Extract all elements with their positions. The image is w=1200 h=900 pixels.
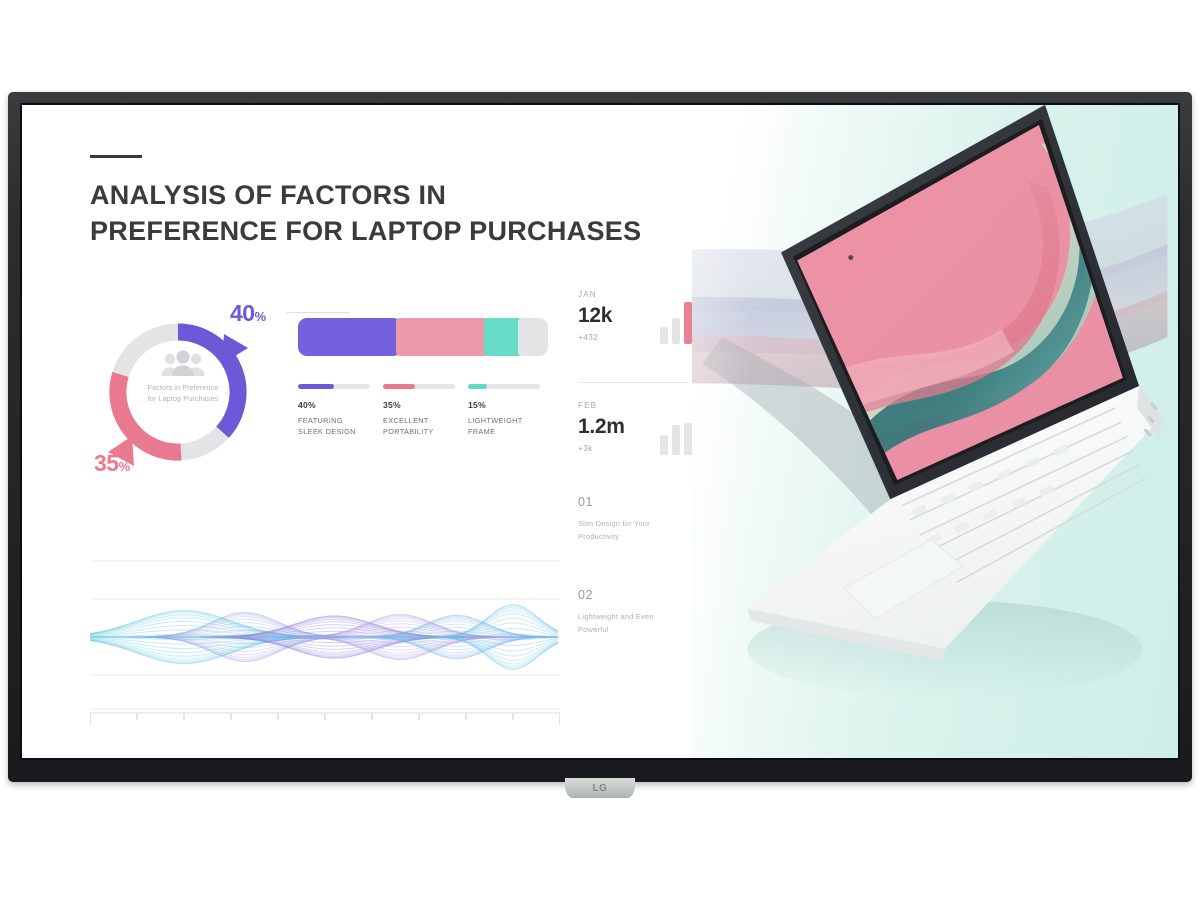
- legend-label: EXCELLENT PORTABILITY: [383, 415, 468, 438]
- donut-caption-line-1: Factors in Preference: [148, 383, 219, 392]
- note-number: 01: [578, 495, 708, 509]
- donut-chart: Factors in Preference for Laptop Purchas…: [90, 298, 290, 483]
- legend-label-line-2: SLEEK DESIGN: [298, 427, 356, 436]
- sparkline-bar: [672, 318, 680, 344]
- title-accent-rule: [90, 155, 142, 158]
- sparkline-bar: [660, 327, 668, 344]
- note-item-01: 01 Slim Design for Your Productivity: [578, 495, 708, 544]
- note-text: Slim Design for Your Productivity: [578, 518, 683, 544]
- note-text: Lightweight and Even Powerful: [578, 611, 683, 637]
- stats-column: JAN 12k +432: [578, 290, 708, 681]
- legend-label-line-2: PORTABILITY: [383, 427, 434, 436]
- sparkline-bar-highlight: [684, 302, 692, 344]
- note-item-02: 02 Lightweight and Even Powerful: [578, 588, 708, 637]
- monitor-screen: ANALYSIS OF FACTORS IN PREFERENCE FOR LA…: [22, 105, 1178, 758]
- title-line-2: PREFERENCE FOR LAPTOP PURCHASES: [90, 216, 641, 246]
- legend-progress-fill: [298, 384, 334, 389]
- stat-divider: [578, 382, 688, 383]
- bar-segment-other: [518, 318, 548, 356]
- donut-label-secondary-unit: %: [119, 459, 130, 474]
- legend-label: FEATURING SLEEK DESIGN: [298, 415, 383, 438]
- bar-segment-portability: [396, 318, 487, 356]
- stat-month: JAN: [578, 290, 708, 299]
- notes-list: 01 Slim Design for Your Productivity 02 …: [578, 495, 708, 637]
- sparkline-bar: [672, 425, 680, 455]
- stat-card-feb: FEB 1.2m +3k: [578, 401, 708, 489]
- waveform-chart: [90, 547, 560, 737]
- donut-caption-line-2: for Laptop Purchases: [148, 394, 218, 403]
- legend-progress-track: [298, 384, 370, 389]
- waveform-series-group: [90, 604, 558, 669]
- legend-pct: 35%: [383, 400, 468, 410]
- legend-label-line-1: LIGHTWEIGHT: [468, 416, 523, 425]
- slide-content-right: [692, 105, 1178, 758]
- legend-pct: 40%: [298, 400, 383, 410]
- title-line-1: ANALYSIS OF FACTORS IN: [90, 180, 446, 210]
- donut-label-secondary: 35%: [94, 450, 130, 477]
- donut-label-primary: 40%: [230, 300, 266, 327]
- presentation-slide: ANALYSIS OF FACTORS IN PREFERENCE FOR LA…: [22, 105, 1178, 758]
- screenshot-root: LG ANALYSIS OF FACTORS IN PREFERENCE FOR…: [0, 0, 1200, 900]
- monitor-device: LG ANALYSIS OF FACTORS IN PREFERENCE FOR…: [8, 92, 1192, 782]
- legend-label-line-1: FEATURING: [298, 416, 343, 425]
- legend-progress-track: [383, 384, 455, 389]
- legend-item-sleek-design[interactable]: 40% FEATURING SLEEK DESIGN: [298, 384, 383, 438]
- legend-progress-fill: [468, 384, 487, 389]
- page-title: ANALYSIS OF FACTORS IN PREFERENCE FOR LA…: [90, 178, 692, 250]
- laptop-webcam-icon: [849, 255, 854, 260]
- donut-leader-line: [286, 312, 350, 313]
- stacked-bar-chart: [298, 318, 548, 356]
- donut-label-primary-unit: %: [255, 309, 266, 324]
- legend-progress-track: [468, 384, 540, 389]
- donut-center-content: Factors in Preference for Laptop Purchas…: [128, 350, 238, 404]
- legend: 40% FEATURING SLEEK DESIGN: [298, 384, 560, 438]
- legend-label: LIGHTWEIGHT FRAME: [468, 415, 553, 438]
- waveform-chart-svg: [90, 547, 560, 737]
- stat-month: FEB: [578, 401, 708, 410]
- legend-pct: 15%: [468, 400, 553, 410]
- sparkline-bar: [684, 423, 692, 455]
- note-number: 02: [578, 588, 708, 602]
- legend-progress-fill: [383, 384, 415, 389]
- stat-card-jan: JAN 12k +432: [578, 290, 708, 378]
- people-group-icon: [160, 350, 206, 376]
- laptop-product-image: [692, 105, 1178, 758]
- sparkline-bar: [660, 435, 668, 455]
- legend-item-lightweight[interactable]: 15% LIGHTWEIGHT FRAME: [468, 384, 553, 438]
- legend-label-line-2: FRAME: [468, 427, 495, 436]
- donut-center-caption: Factors in Preference for Laptop Purchas…: [128, 382, 238, 404]
- brand-logo: LG: [593, 783, 608, 794]
- slide-content-left: ANALYSIS OF FACTORS IN PREFERENCE FOR LA…: [22, 105, 692, 758]
- waveform-x-axis: [90, 713, 560, 725]
- bar-segment-sleek-design: [298, 318, 402, 356]
- legend-item-portability[interactable]: 35% EXCELLENT PORTABILITY: [383, 384, 468, 438]
- donut-label-secondary-value: 35: [94, 450, 119, 476]
- bar-segment-lightweight: [484, 318, 522, 356]
- monitor-stand: LG: [565, 778, 635, 798]
- legend-label-line-1: EXCELLENT: [383, 416, 429, 425]
- donut-label-primary-value: 40: [230, 300, 255, 326]
